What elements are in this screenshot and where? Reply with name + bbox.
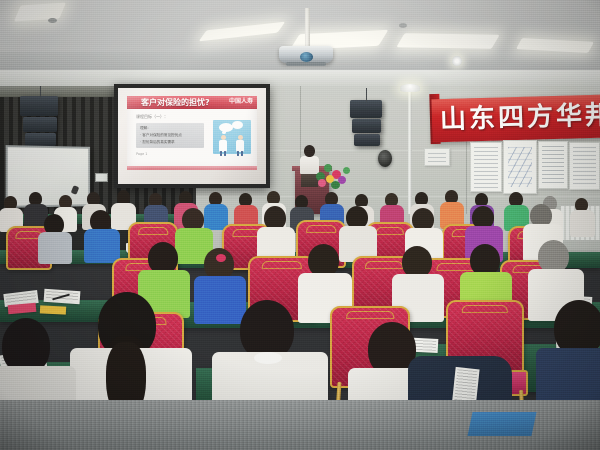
chair-crest — [365, 261, 403, 269]
poster-text-lines — [428, 153, 446, 162]
projector-lens-icon — [300, 52, 313, 62]
poster-text-lines — [542, 146, 564, 185]
floor-mat — [467, 412, 536, 436]
shirt-collar — [254, 352, 282, 364]
figure-leg — [220, 151, 222, 156]
slide-body-line: 理解： — [140, 126, 151, 131]
attendee-torso — [38, 232, 72, 264]
attendee-torso — [84, 229, 120, 263]
speaker-wire — [40, 86, 41, 98]
smoke-detector-icon — [399, 23, 407, 28]
support-pole — [408, 86, 412, 214]
wall-poster — [569, 142, 600, 190]
wall-speaker — [354, 134, 380, 146]
seminar-photo: 山东四方华邦 客户对保险的担忧? 中国人寿 课程目标（一）： 理解： · 客户对… — [0, 0, 600, 450]
slide-title: 客户对保险的担忧? — [141, 97, 210, 108]
pole-lamp — [400, 84, 420, 92]
projector-mount-pole — [305, 8, 310, 50]
chair-crest — [306, 225, 336, 233]
wall-notice — [424, 148, 450, 166]
slide-footer: Page 1 — [136, 152, 147, 156]
poster-text-lines — [474, 147, 498, 188]
smoke-detector-icon — [48, 18, 57, 23]
presentation-slide: 客户对保险的担忧? 中国人寿 课程目标（一）： 理解： · 客户对保险的常见担忧… — [127, 96, 257, 170]
folder — [40, 305, 66, 314]
whiteboard — [6, 145, 90, 208]
attendee-head — [240, 300, 294, 360]
banner-text: 山东四方华邦 — [440, 100, 600, 135]
chair-crest — [138, 227, 168, 235]
poster-handwriting — [508, 147, 532, 187]
figure-leg — [224, 151, 226, 156]
chair-crest — [462, 305, 508, 313]
slide-subtitle: 课程目标（一）： — [136, 114, 168, 120]
ceiling-valance — [0, 70, 600, 86]
slide-illustration — [213, 120, 251, 154]
wall-poster — [538, 141, 568, 189]
chair-crest — [346, 311, 394, 319]
projection-screen: 客户对保险的担忧? 中国人寿 课程目标（一）： 理解： · 客户对保险的常见担忧… — [118, 88, 266, 184]
wall-speaker — [23, 117, 57, 132]
wall-speaker — [25, 133, 56, 146]
wall-poster — [503, 140, 537, 194]
wall-socket — [95, 173, 108, 182]
wall-panel-seam — [466, 140, 467, 214]
ceiling-spotlight — [452, 56, 462, 66]
slide-logo: 中国人寿 — [229, 98, 253, 106]
flower-leaf — [343, 167, 350, 174]
flower-arrangement — [312, 158, 354, 190]
attendee-torso — [194, 276, 246, 324]
chair-crest — [262, 261, 302, 269]
slide-body-line: · 担忧背后的真实需求 — [140, 140, 175, 145]
wall-speaker — [350, 100, 382, 118]
wall-speaker — [352, 119, 381, 133]
slide-body-line: · 客户对保险的常见担忧点 — [140, 133, 182, 138]
wall-speaker — [20, 96, 58, 116]
wall-panel-seam — [196, 196, 600, 197]
flower-leaf — [331, 181, 340, 189]
hair-scrunchie — [216, 254, 226, 262]
flower-bloom — [318, 179, 326, 187]
poster-text-lines — [573, 147, 596, 186]
figure-leg — [237, 151, 239, 156]
speaker-wire — [366, 88, 367, 102]
event-banner: 山东四方华邦 — [431, 95, 600, 143]
slide-bottom-bar — [127, 166, 257, 170]
speech-bubble-icon — [232, 121, 243, 129]
chair-crest — [437, 263, 474, 271]
chair-crest — [376, 227, 404, 235]
wall-poster — [470, 142, 502, 192]
presenter-hair — [304, 145, 315, 157]
projector-base — [286, 62, 326, 66]
wall-clock-icon — [378, 150, 392, 167]
speech-bubble-tail-icon — [222, 131, 226, 134]
attendee-torso — [570, 210, 595, 237]
flower-leaf — [324, 164, 332, 172]
speech-bubble-icon — [219, 123, 233, 132]
slide-content-box: 理解： · 客户对保险的常见担忧点 · 担忧背后的真实需求 — [136, 123, 204, 148]
figure-leg — [241, 151, 243, 156]
ceiling-light — [396, 33, 499, 49]
